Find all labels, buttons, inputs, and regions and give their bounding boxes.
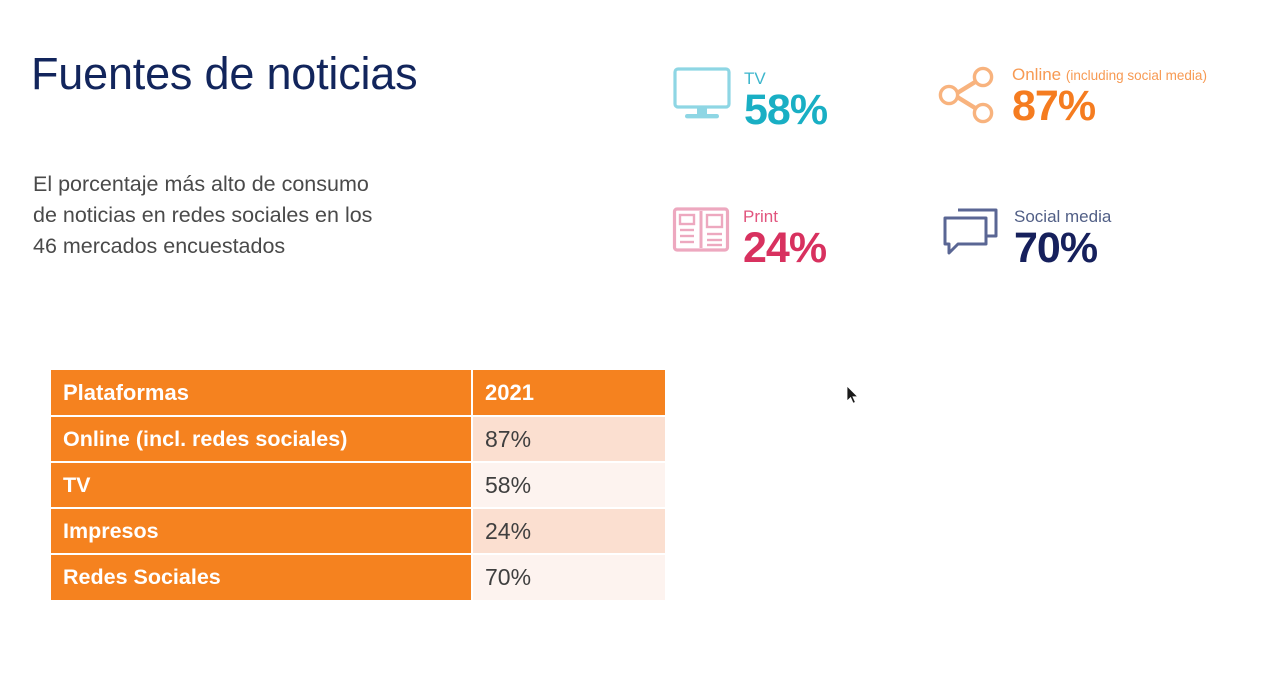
table-row: Redes Sociales 70% [51, 554, 665, 600]
stat-value-tv: 58% [744, 89, 827, 131]
newspaper-icon [672, 206, 730, 259]
monitor-icon [672, 66, 732, 127]
stat-card-social-media: Social media 70% [942, 206, 1111, 269]
row-label-online: Online (incl. redes sociales) [51, 416, 472, 462]
row-label-impresos: Impresos [51, 508, 472, 554]
column-header-platform: Plataformas [51, 370, 472, 416]
page-title: Fuentes de noticias [31, 50, 417, 97]
row-value-online: 87% [472, 416, 665, 462]
slide-description-line-1: El porcentaje más alto de consumo [33, 169, 503, 200]
stat-label-sub-online: (including social media) [1066, 68, 1207, 83]
slide-description-line-3: 46 mercados encuestados [33, 231, 503, 262]
stat-text-print: Print 24% [743, 208, 826, 269]
stat-text-tv: TV 58% [744, 70, 827, 131]
table-header-row: Plataformas 2021 [51, 370, 665, 416]
row-value-redes-sociales: 70% [472, 554, 665, 600]
speech-bubbles-icon [942, 206, 1000, 261]
stat-card-print: Print 24% [672, 206, 826, 269]
row-value-impresos: 24% [472, 508, 665, 554]
stat-value-online: 87% [1012, 85, 1207, 127]
slide-description: El porcentaje más alto de consumo de not… [33, 169, 503, 262]
stat-label-online: Online (including social media) [1012, 66, 1207, 83]
table-row: Online (incl. redes sociales) 87% [51, 416, 665, 462]
stat-text-social-media: Social media 70% [1014, 208, 1111, 269]
row-value-tv: 58% [472, 462, 665, 508]
stat-card-online: Online (including social media) 87% [936, 64, 1207, 131]
stat-text-online: Online (including social media) 87% [1012, 66, 1207, 127]
arrow-pointer-icon [846, 385, 860, 405]
slide-description-line-2: de noticias en redes sociales en los [33, 200, 503, 231]
row-label-redes-sociales: Redes Sociales [51, 554, 472, 600]
table-row: TV 58% [51, 462, 665, 508]
column-header-year: 2021 [472, 370, 665, 416]
stat-label-print: Print [743, 208, 826, 225]
stat-label-social-media: Social media [1014, 208, 1111, 225]
share-nodes-icon [936, 64, 998, 131]
row-label-tv: TV [51, 462, 472, 508]
table-row: Impresos 24% [51, 508, 665, 554]
stat-value-social-media: 70% [1014, 227, 1111, 269]
stat-value-print: 24% [743, 227, 826, 269]
platform-percentage-table: Plataformas 2021 Online (incl. redes soc… [51, 370, 665, 600]
stat-card-tv: TV 58% [672, 66, 827, 131]
stat-label-tv: TV [744, 70, 827, 87]
